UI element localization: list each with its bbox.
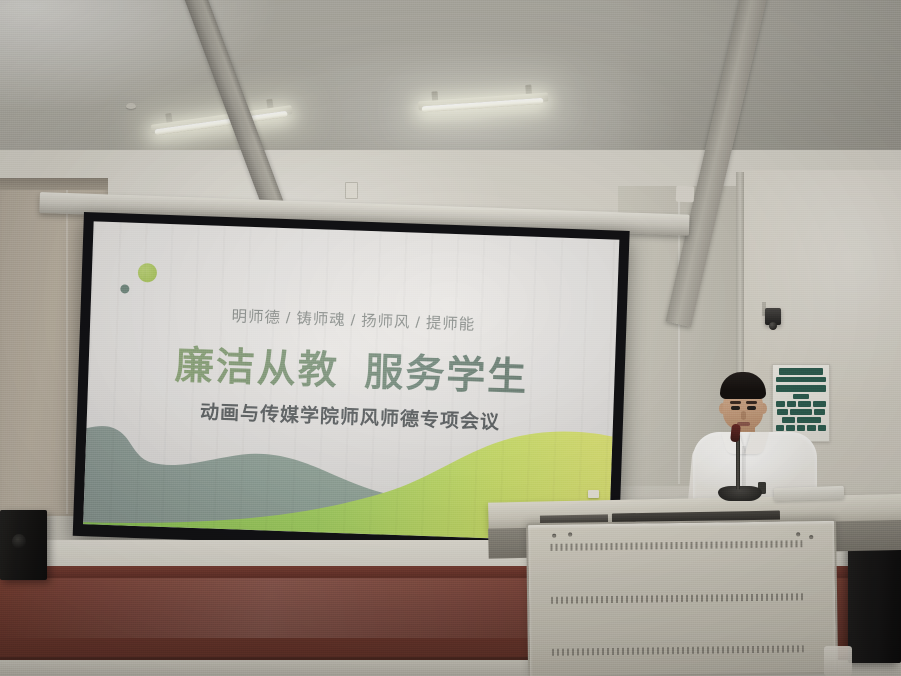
projected-slide: 明师德 / 铸师魂 / 扬师风 / 提师能 廉洁从教 服务学生 动画与传媒学院师…	[83, 221, 619, 542]
presenter-eyebrow-right	[746, 401, 757, 404]
presenter-eye-left	[731, 406, 740, 410]
lecture-hall-photo: 明师德 / 铸师魂 / 扬师风 / 提师能 廉洁从教 服务学生 动画与传媒学院师…	[0, 0, 901, 676]
presenter-eye-right	[747, 406, 756, 410]
speaker-left-driver-icon	[12, 534, 26, 549]
desk-paper	[774, 486, 844, 501]
slide-decor-dot-small	[120, 284, 129, 293]
lectern-screw	[809, 535, 813, 539]
screen-roller-end-cap	[676, 186, 695, 203]
desk-small-box	[588, 490, 599, 498]
presenter-nose	[741, 411, 746, 420]
camera-lens-icon	[769, 322, 777, 330]
smoke-detector-icon	[126, 103, 136, 109]
microphone-gooseneck	[736, 434, 740, 490]
lectern-vent-row	[550, 540, 802, 551]
wall-panel-seam	[66, 188, 68, 514]
slide-decor-dot-large	[138, 263, 158, 283]
presenter-eyebrow-left	[730, 401, 741, 404]
floor-object	[824, 646, 852, 676]
lectern-screw	[796, 532, 800, 536]
lectern	[526, 519, 838, 676]
slide-title: 廉洁从教 服务学生	[88, 331, 616, 405]
microphone-base	[718, 486, 762, 501]
lectern-vent-row	[552, 645, 804, 656]
speaker-right	[848, 538, 901, 663]
lectern-vent-row	[551, 593, 803, 604]
presenter-hair	[720, 372, 766, 399]
wall-junction-box	[345, 182, 358, 199]
lectern-screw	[568, 533, 572, 537]
lectern-screw	[552, 534, 556, 538]
wall-panel-top-trim	[0, 178, 108, 190]
